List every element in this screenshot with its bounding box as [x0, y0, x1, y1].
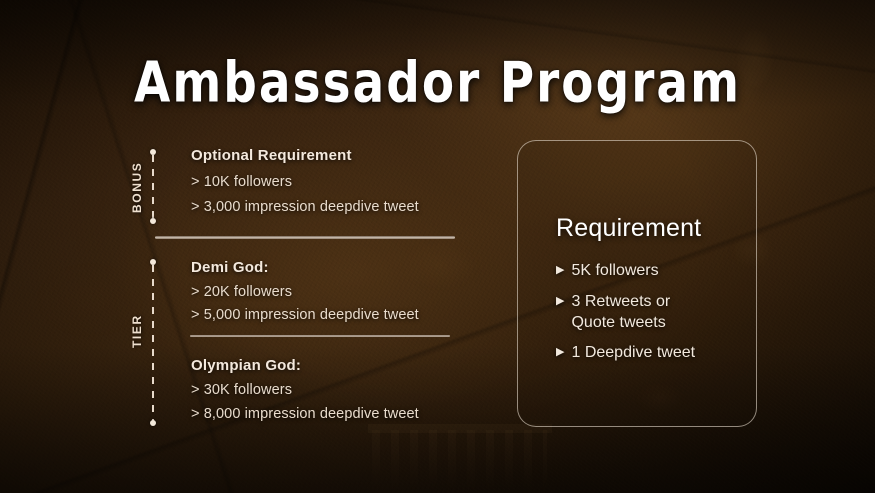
section-heading-optional-requirement: Optional Requirement — [191, 147, 352, 164]
requirement-item: ▶ 5K followers — [556, 260, 659, 281]
vertical-label-tier: TIER — [130, 314, 144, 348]
requirement-item-label: 3 Retweets or Quote tweets — [571, 291, 670, 333]
dashed-line-bonus — [152, 155, 154, 219]
triangle-bullet-icon: ▶ — [556, 260, 564, 281]
triangle-bullet-icon: ▶ — [556, 291, 564, 312]
section-line-olympian-god-followers: > 30K followers — [191, 382, 292, 398]
dash-endpoint-dot-bottom-tier — [150, 420, 156, 426]
section-line-bonus-followers: > 10K followers — [191, 174, 292, 190]
section-heading-demi-god: Demi God: — [191, 259, 269, 276]
requirement-card-title: Requirement — [556, 214, 701, 243]
section-heading-olympian-god: Olympian God: — [191, 357, 301, 374]
requirement-item: ▶ 1 Deepdive tweet — [556, 342, 695, 363]
divider-demi-olympian — [190, 335, 450, 337]
tier-list-panel: BONUS Optional Requirement > 10K followe… — [0, 0, 470, 493]
section-line-bonus-impressions: > 3,000 impression deepdive tweet — [191, 199, 419, 215]
divider-bonus-tier — [155, 236, 455, 239]
section-line-demi-god-followers: > 20K followers — [191, 284, 292, 300]
section-line-olympian-god-impressions: > 8,000 impression deepdive tweet — [191, 406, 419, 422]
requirement-item-label: 1 Deepdive tweet — [571, 342, 695, 363]
dash-endpoint-dot-bottom-bonus — [150, 218, 156, 224]
requirement-item: ▶ 3 Retweets or Quote tweets — [556, 291, 670, 333]
requirement-item-label: 5K followers — [571, 260, 658, 281]
vertical-label-bonus: BONUS — [130, 162, 144, 213]
triangle-bullet-icon: ▶ — [556, 342, 564, 363]
requirement-card: Requirement ▶ 5K followers ▶ 3 Retweets … — [517, 140, 757, 427]
section-line-demi-god-impressions: > 5,000 impression deepdive tweet — [191, 307, 419, 323]
dashed-line-tier — [152, 265, 154, 422]
ambassador-program-slide: Ambassador Program BONUS Optional Requir… — [0, 0, 875, 493]
